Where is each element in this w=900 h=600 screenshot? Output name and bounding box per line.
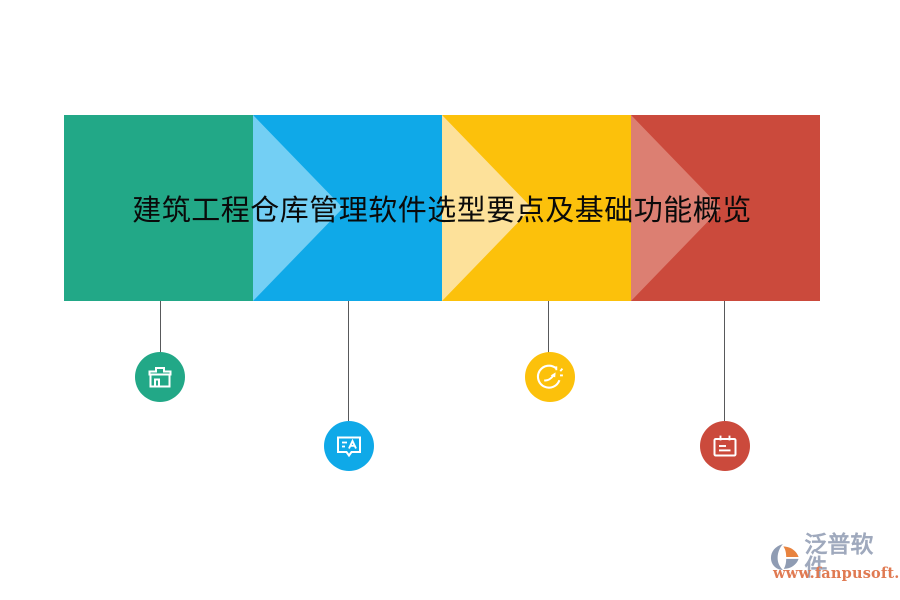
- node-badge-growth[interactable]: [525, 352, 575, 402]
- node-badge-translate[interactable]: [324, 421, 374, 471]
- connector-line-1: [160, 301, 161, 357]
- banner-segment-1[interactable]: [64, 115, 253, 301]
- connector-line-3: [548, 301, 549, 357]
- node-badge-notepad[interactable]: [700, 421, 750, 471]
- notepad-icon: [711, 432, 739, 460]
- chevron-banner-graphic: [64, 115, 820, 301]
- connector-line-4: [724, 301, 725, 421]
- logo-website-url: www.fanpusoft.com: [773, 565, 900, 582]
- slide-canvas: 建筑工程仓库管理软件选型要点及基础功能概览: [0, 0, 900, 600]
- chevron-banner: 建筑工程仓库管理软件选型要点及基础功能概览: [64, 115, 820, 301]
- connector-line-2: [348, 301, 349, 421]
- node-badge-store[interactable]: [135, 352, 185, 402]
- brand-logo[interactable]: 泛普软件 www.fanpusoft.com: [770, 534, 892, 586]
- translate-icon: [335, 432, 363, 460]
- growth-icon: [536, 363, 564, 391]
- store-icon: [146, 363, 174, 391]
